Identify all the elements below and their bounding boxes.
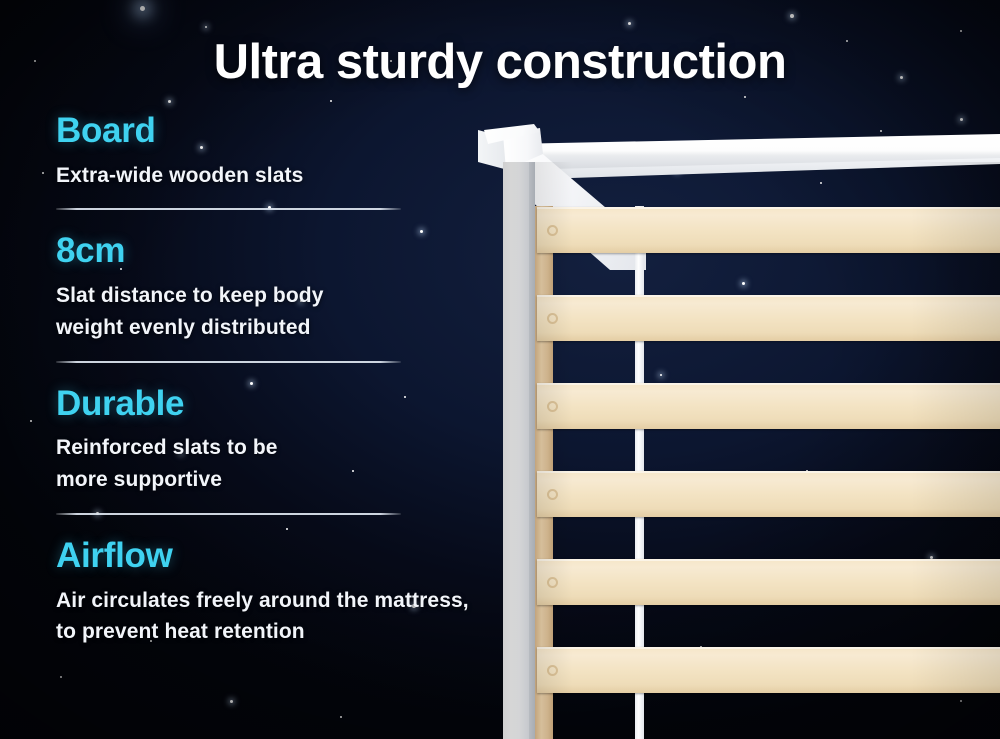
wooden-slat bbox=[537, 295, 1000, 341]
feature-divider bbox=[56, 208, 401, 210]
frame-post-shadow-edge bbox=[529, 162, 535, 739]
feature-description: Extra-wide wooden slats bbox=[56, 160, 476, 192]
wooden-slat bbox=[537, 207, 1000, 253]
feature-divider bbox=[56, 513, 401, 515]
wooden-slat bbox=[537, 559, 1000, 605]
feature-item-8cm: 8cm Slat distance to keep body weight ev… bbox=[56, 232, 476, 362]
feature-heading: Airflow bbox=[56, 537, 476, 576]
feature-item-board: Board Extra-wide wooden slats bbox=[56, 112, 476, 210]
wooden-slat bbox=[537, 647, 1000, 693]
bed-frame-illustration bbox=[470, 110, 1000, 739]
slat-screw bbox=[549, 403, 556, 410]
slat-screw bbox=[549, 579, 556, 586]
wooden-slat bbox=[537, 383, 1000, 429]
feature-description: Reinforced slats to be more supportive bbox=[56, 432, 316, 496]
infographic-canvas: Ultra sturdy construction Board Extra-wi… bbox=[0, 0, 1000, 739]
slat-screw bbox=[549, 667, 556, 674]
feature-heading: Durable bbox=[56, 385, 476, 424]
wooden-slat bbox=[537, 471, 1000, 517]
feature-heading: Board bbox=[56, 112, 476, 151]
slat-screw bbox=[549, 227, 556, 234]
feature-item-airflow: Airflow Air circulates freely around the… bbox=[56, 537, 476, 648]
feature-item-durable: Durable Reinforced slats to be more supp… bbox=[56, 385, 476, 515]
slat-screw bbox=[549, 315, 556, 322]
feature-description: Air circulates freely around the mattres… bbox=[56, 585, 476, 649]
frame-vertical-post bbox=[503, 162, 529, 739]
feature-heading: 8cm bbox=[56, 232, 476, 271]
feature-list: Board Extra-wide wooden slats 8cm Slat d… bbox=[56, 112, 476, 648]
page-title: Ultra sturdy construction bbox=[0, 34, 1000, 90]
feature-description: Slat distance to keep body weight evenly… bbox=[56, 280, 356, 344]
slat-screw bbox=[549, 491, 556, 498]
feature-divider bbox=[56, 361, 401, 363]
